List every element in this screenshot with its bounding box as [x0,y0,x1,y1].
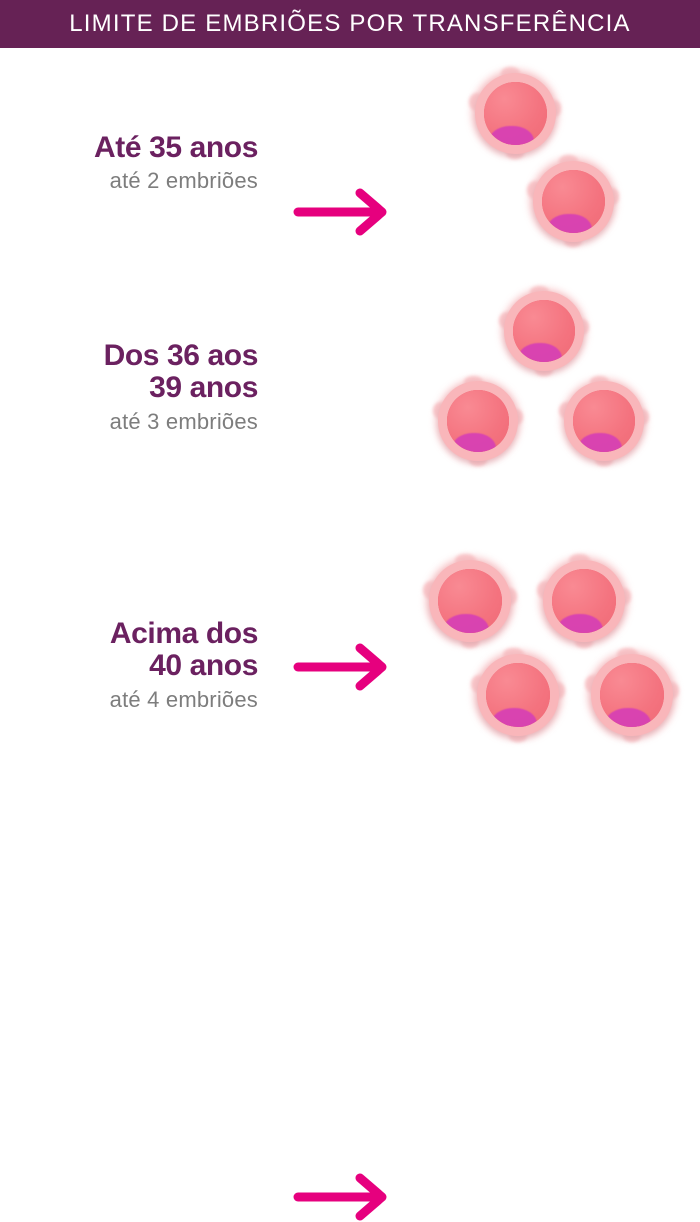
age-group-row: Até 35 anos até 2 embriões [0,60,700,275]
age-group-row: Dos 36 aos 39 anos até 3 embriões [0,285,700,500]
age-label-line: Dos 36 aos [0,340,258,372]
embryo-cell-mass [443,614,489,633]
embryo-cytoplasm [513,300,575,362]
embryo-cell-mass [547,214,592,233]
age-label-line: 39 anos [0,372,258,404]
embryo-count-label: até 2 embriões [0,167,258,195]
embryo-illustration [470,68,560,158]
embryo-illustration [528,156,618,246]
embryo-cytoplasm [438,569,502,633]
embryo-cell-mass [557,614,603,633]
embryo-cytoplasm [573,390,635,452]
embryo-cell-mass [578,433,622,451]
embryo-illustration [434,377,522,465]
age-label: Dos 36 aos 39 anos [0,340,258,405]
embryo-cell-mass [518,343,562,361]
embryo-count-label: até 3 embriões [0,408,258,436]
arrow-right-icon [292,187,402,237]
embryo-cell-mass [605,708,651,727]
age-group-text-block: Dos 36 aos 39 anos até 3 embriões [0,340,258,435]
header-bar: LIMITE DE EMBRIÕES POR TRANSFERÊNCIA [0,0,700,48]
embryo-cytoplasm [600,663,664,727]
embryo-cluster [410,545,700,760]
age-label-line: Acima dos [0,618,258,650]
age-label: Acima dos 40 anos [0,618,258,683]
age-label: Até 35 anos [0,132,258,164]
age-label-line: 40 anos [0,650,258,682]
embryo-count-label: até 4 embriões [0,686,258,714]
embryo-cell-mass [452,433,496,451]
embryo-cytoplasm [486,663,550,727]
age-group-text-block: Acima dos 40 anos até 4 embriões [0,618,258,713]
embryo-illustration [500,287,588,375]
embryo-cytoplasm [552,569,616,633]
age-group-row: Acima dos 40 anos até 4 embriões [0,545,700,763]
embryo-cytoplasm [484,82,547,145]
age-group-text-block: Até 35 anos até 2 embriões [0,132,258,195]
embryo-illustration [586,649,678,741]
embryo-illustration [472,649,564,741]
embryo-illustration [424,555,516,647]
page-title: LIMITE DE EMBRIÕES POR TRANSFERÊNCIA [69,10,631,38]
embryo-cluster [410,60,700,275]
arrow-right-icon [292,1172,402,1222]
embryo-cell-mass [491,708,537,727]
embryo-cluster [410,285,700,500]
embryo-cell-mass [489,126,534,145]
embryo-illustration [538,555,630,647]
embryo-illustration [560,377,648,465]
embryo-cytoplasm [542,170,605,233]
embryo-cytoplasm [447,390,509,452]
age-label-line: Até 35 anos [94,131,258,164]
